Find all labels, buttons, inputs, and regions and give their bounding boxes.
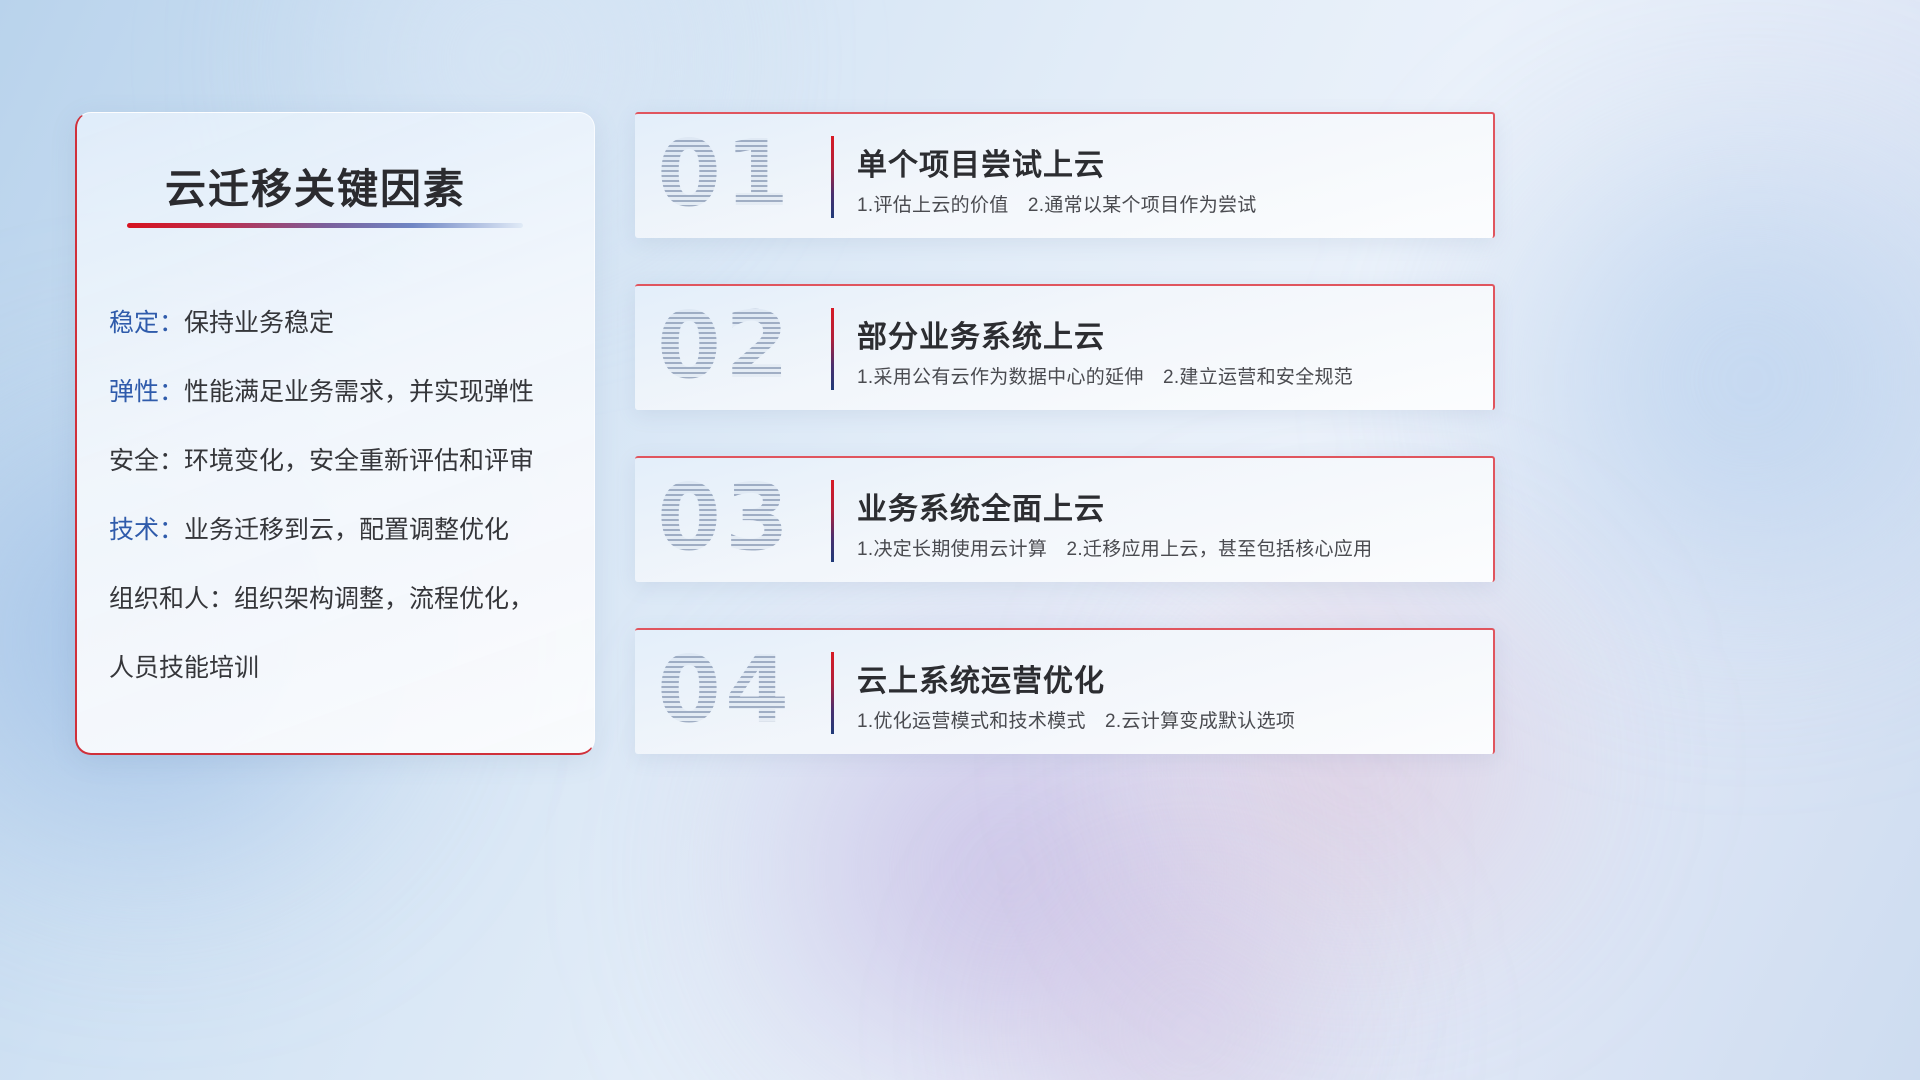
list-item-continuation: 人员技能培训	[109, 656, 574, 681]
step-accent-bar	[831, 136, 834, 218]
list-item: 稳定：保持业务稳定	[109, 311, 574, 336]
list-item: 技术：业务迁移到云，配置调整优化	[109, 518, 574, 543]
list-item: 弹性：性能满足业务需求，并实现弹性	[109, 380, 574, 405]
step-accent-bar	[831, 480, 834, 562]
factor-text: 组织架构调整，流程优化，	[234, 585, 534, 613]
step-number: 01	[657, 120, 793, 227]
step-card-04[interactable]: 04 04 云上系统运营优化 1.优化运营模式和技术模式 2.云计算变成默认选项	[635, 628, 1495, 754]
step-number: 04	[657, 636, 793, 743]
key-factors-panel: 云迁移关键因素 稳定：保持业务稳定 弹性：性能满足业务需求，并实现弹性 安全：环…	[75, 112, 595, 755]
step-card-02[interactable]: 02 02 部分业务系统上云 1.采用公有云作为数据中心的延伸 2.建立运营和安…	[635, 284, 1495, 410]
step-subtitle: 1.采用公有云作为数据中心的延伸 2.建立运营和安全规范	[857, 362, 1353, 389]
factor-text: 人员技能培训	[109, 654, 259, 682]
factor-label: 技术：	[109, 516, 184, 544]
step-accent-bar	[831, 652, 834, 734]
page-title: 云迁移关键因素	[165, 155, 466, 215]
factor-text: 保持业务稳定	[184, 309, 334, 337]
step-number: 03	[657, 464, 793, 571]
title-underline	[127, 223, 523, 228]
factor-label: 弹性：	[109, 378, 184, 406]
step-title: 云上系统运营优化	[857, 656, 1105, 700]
factor-text: 性能满足业务需求，并实现弹性	[184, 378, 534, 406]
list-item: 组织和人：组织架构调整，流程优化，	[109, 587, 574, 612]
step-subtitle: 1.评估上云的价值 2.通常以某个项目作为尝试	[857, 190, 1257, 217]
step-card-03[interactable]: 03 03 业务系统全面上云 1.决定长期使用云计算 2.迁移应用上云，甚至包括…	[635, 456, 1495, 582]
factor-label: 组织和人：	[109, 585, 234, 613]
list-item: 安全：环境变化，安全重新评估和评审	[109, 449, 574, 474]
step-card-01[interactable]: 01 01 单个项目尝试上云 1.评估上云的价值 2.通常以某个项目作为尝试	[635, 112, 1495, 238]
step-title: 单个项目尝试上云	[857, 140, 1105, 184]
step-accent-bar	[831, 308, 834, 390]
factor-text: 环境变化，安全重新评估和评审	[184, 447, 534, 475]
factor-list: 稳定：保持业务稳定 弹性：性能满足业务需求，并实现弹性 安全：环境变化，安全重新…	[109, 311, 574, 681]
step-title: 业务系统全面上云	[857, 484, 1105, 528]
step-number: 02	[657, 292, 793, 399]
factor-label: 稳定：	[109, 309, 184, 337]
factor-label: 安全：	[109, 447, 184, 475]
factor-text: 业务迁移到云，配置调整优化	[184, 516, 509, 544]
step-title: 部分业务系统上云	[857, 312, 1105, 356]
step-subtitle: 1.优化运营模式和技术模式 2.云计算变成默认选项	[857, 706, 1295, 733]
step-subtitle: 1.决定长期使用云计算 2.迁移应用上云，甚至包括核心应用	[857, 534, 1372, 561]
